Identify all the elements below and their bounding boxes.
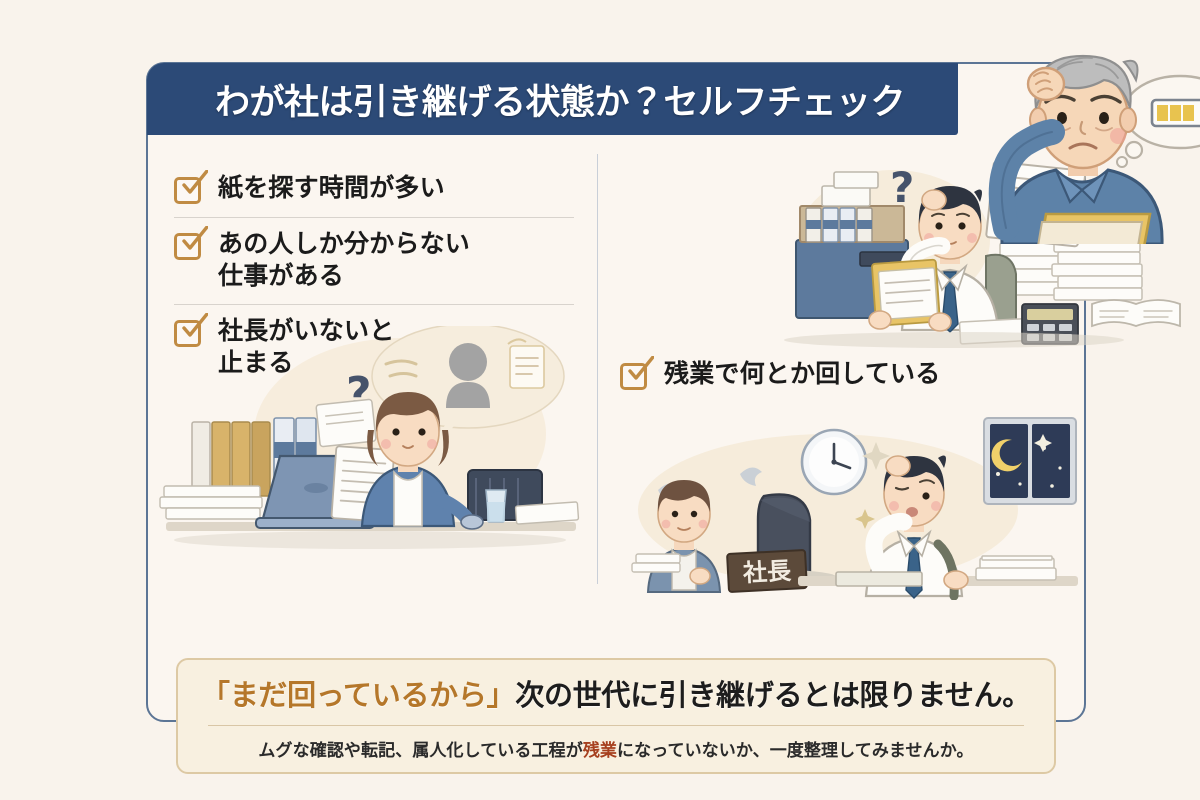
header-bar: わが社は引き継げる状態か？セルフチェック — [147, 63, 958, 135]
page-title: わが社は引き継げる状態か？セルフチェック — [215, 74, 905, 125]
content-area: ? — [148, 136, 1084, 722]
checkbox-checked-icon[interactable] — [174, 318, 204, 348]
worried-elderly-man-illustration — [984, 36, 1200, 244]
checkbox-checked-icon[interactable] — [174, 175, 204, 205]
checklist-right: 残業で何とか回している — [620, 348, 1070, 403]
checklist-item-label: あの人しか分からない 仕事がある — [218, 228, 470, 292]
checklist-item[interactable]: あの人しか分からない 仕事がある — [174, 217, 574, 304]
checklist-item-label: 残業で何とか回している — [664, 358, 940, 390]
banner-headline: 「まだ回っているから」次の世代に引き継げるとは限りません。 — [201, 672, 1031, 714]
banner-subtext-part2: になっていないか、一度整理してみませんか。 — [617, 741, 974, 761]
banner-subtext: ムグな確認や転記、属人化している工程が残業になっていないか、一度整理してみません… — [258, 736, 973, 761]
overtime-night-illustration: 社長 — [608, 404, 1078, 600]
checklist-item[interactable]: 紙を探す時間が多い — [174, 162, 574, 217]
banner-headline-quoted: 「まだ回っているから」 — [201, 678, 515, 712]
banner-subtext-part1: ムグな確認や転記、属人化している工程が — [258, 741, 582, 761]
checklist-item-label: 紙を探す時間が多い — [218, 172, 445, 204]
left-column: ? — [148, 136, 597, 596]
column-divider — [597, 154, 598, 584]
checkbox-checked-icon[interactable] — [620, 361, 650, 391]
checklist-item[interactable]: 残業で何とか回している — [620, 348, 1070, 403]
checklist-item-label: 社長がいないと 止まる — [218, 315, 394, 379]
checklist-left: 紙を探す時間が多い あの人しか分からない 仕事がある — [174, 162, 574, 391]
banner-headline-rest: 次の世代に引き継げるとは限りません。 — [515, 678, 1031, 712]
conclusion-banner: 「まだ回っているから」次の世代に引き継げるとは限りません。 ムグな確認や転記、属… — [176, 658, 1056, 774]
banner-divider — [208, 725, 1024, 726]
banner-subtext-highlight: 残業 — [583, 741, 617, 761]
checkbox-checked-icon[interactable] — [174, 231, 204, 261]
self-check-card: わが社は引き継げる状態か？セルフチェック — [146, 62, 1086, 722]
checklist-item[interactable]: 社長がいないと 止まる — [174, 304, 574, 391]
nameplate-label: 社長 — [741, 557, 791, 588]
svg-text:?: ? — [890, 163, 914, 212]
